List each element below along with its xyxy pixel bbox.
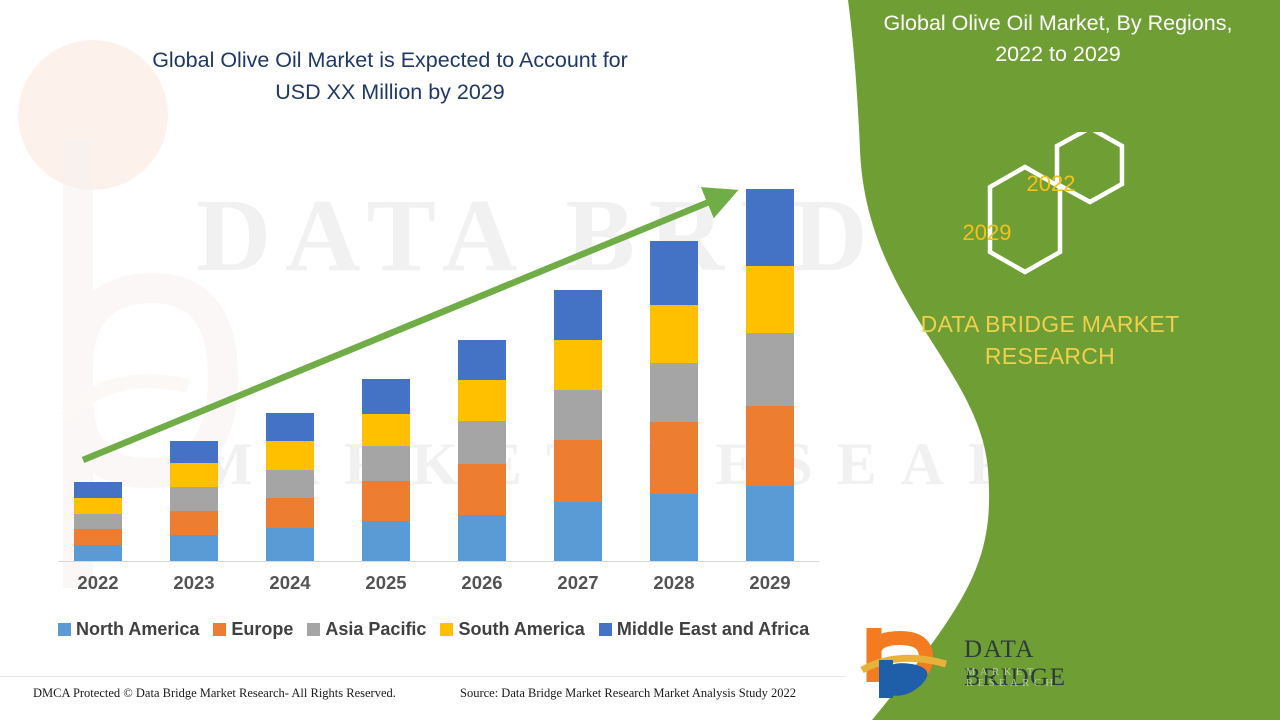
bar-segment-2022-asia-pacific[interactable]: [74, 514, 122, 529]
bar-segment-2026-south-america[interactable]: [458, 380, 506, 421]
bar-segment-2023-south-america[interactable]: [170, 463, 218, 487]
legend-label: North America: [76, 619, 199, 640]
bar-segment-2023-asia-pacific[interactable]: [170, 487, 218, 511]
x-axis-tick-2024: 2024: [255, 572, 325, 594]
bar-segment-2027-middle-east-and-africa[interactable]: [554, 290, 602, 340]
chart-title-line-2: USD XX Million by 2029: [40, 76, 740, 108]
bar-2025[interactable]: [362, 379, 410, 561]
bar-segment-2022-middle-east-and-africa[interactable]: [74, 482, 122, 498]
x-axis-tick-2023: 2023: [159, 572, 229, 594]
hexagon-outlines: [952, 132, 1172, 287]
chart-title-line-1: Global Olive Oil Market is Expected to A…: [40, 44, 740, 76]
data-bridge-logo: DATA BRIDGE MARKET RESEARCH: [860, 622, 1090, 702]
bar-segment-2024-asia-pacific[interactable]: [266, 470, 314, 498]
bar-segment-2025-europe[interactable]: [362, 481, 410, 521]
bar-segment-2028-europe[interactable]: [650, 422, 698, 494]
bar-segment-2025-north-america[interactable]: [362, 521, 410, 561]
bar-segment-2028-south-america[interactable]: [650, 305, 698, 363]
logo-tagline: MARKET RESEARCH: [966, 667, 1090, 689]
legend-item-europe[interactable]: Europe: [213, 619, 293, 640]
x-axis-tick-2027: 2027: [543, 572, 613, 594]
bar-2023[interactable]: [170, 441, 218, 561]
bar-2022[interactable]: [74, 482, 122, 561]
bar-2028[interactable]: [650, 241, 698, 561]
bar-segment-2028-asia-pacific[interactable]: [650, 363, 698, 423]
brand-name: DATA BRIDGE MARKET RESEARCH: [830, 308, 1270, 372]
x-axis-labels: 20222023202420252026202720282029: [58, 572, 828, 602]
infographic-root: DATA BRIDGE MARKET RESEARCH Global Olive…: [0, 0, 1280, 720]
bar-segment-2023-europe[interactable]: [170, 511, 218, 535]
bar-segment-2026-middle-east-and-africa[interactable]: [458, 340, 506, 380]
bar-segment-2026-asia-pacific[interactable]: [458, 421, 506, 464]
bar-segment-2029-europe[interactable]: [746, 406, 794, 486]
bar-segment-2028-north-america[interactable]: [650, 494, 698, 561]
x-axis-tick-2022: 2022: [63, 572, 133, 594]
right-green-panel: Global Olive Oil Market, By Regions, 202…: [820, 0, 1280, 720]
hexagon-2029-label: 2029: [942, 220, 1032, 246]
panel-title-line-1: Global Olive Oil Market, By Regions,: [844, 8, 1272, 39]
x-axis-tick-2029: 2029: [735, 572, 805, 594]
footer-source: Source: Data Bridge Market Research Mark…: [460, 686, 796, 701]
hexagon-2022-label: 2022: [1006, 171, 1096, 197]
bar-segment-2025-asia-pacific[interactable]: [362, 446, 410, 481]
bar-segment-2024-middle-east-and-africa[interactable]: [266, 413, 314, 441]
legend-item-north-america[interactable]: North America: [58, 619, 199, 640]
bar-segment-2029-asia-pacific[interactable]: [746, 333, 794, 406]
bar-segment-2028-middle-east-and-africa[interactable]: [650, 241, 698, 305]
footer-divider: [0, 676, 845, 677]
x-axis-tick-2028: 2028: [639, 572, 709, 594]
stacked-bar-chart: [58, 150, 828, 562]
bar-segment-2027-europe[interactable]: [554, 440, 602, 502]
bar-segment-2023-middle-east-and-africa[interactable]: [170, 441, 218, 463]
legend-swatch-icon: [58, 623, 71, 636]
legend-item-south-america[interactable]: South America: [440, 619, 584, 640]
x-axis-tick-2026: 2026: [447, 572, 517, 594]
legend-label: South America: [458, 619, 584, 640]
legend-swatch-icon: [307, 623, 320, 636]
bar-2029[interactable]: [746, 189, 794, 561]
hexagon-badges: 2029 2022: [952, 132, 1172, 287]
legend-label: Middle East and Africa: [617, 619, 809, 640]
chart-legend: North AmericaEuropeAsia PacificSouth Ame…: [58, 615, 838, 643]
brand-name-line-1: DATA BRIDGE MARKET: [830, 308, 1270, 340]
legend-swatch-icon: [440, 623, 453, 636]
bar-segment-2027-north-america[interactable]: [554, 502, 602, 561]
bar-segment-2022-north-america[interactable]: [74, 545, 122, 561]
bar-segment-2027-asia-pacific[interactable]: [554, 390, 602, 440]
bar-2026[interactable]: [458, 340, 506, 561]
bar-segment-2024-south-america[interactable]: [266, 441, 314, 471]
bar-segment-2029-south-america[interactable]: [746, 266, 794, 334]
logo-mark-icon: [860, 624, 960, 700]
bar-segment-2022-europe[interactable]: [74, 529, 122, 545]
axis-baseline: [58, 561, 820, 562]
bar-segment-2026-europe[interactable]: [458, 464, 506, 515]
bar-segment-2024-north-america[interactable]: [266, 528, 314, 561]
bar-segment-2022-south-america[interactable]: [74, 498, 122, 514]
panel-title: Global Olive Oil Market, By Regions, 202…: [844, 8, 1272, 70]
legend-item-middle-east-and-africa[interactable]: Middle East and Africa: [599, 619, 809, 640]
bar-2027[interactable]: [554, 290, 602, 561]
legend-item-asia-pacific[interactable]: Asia Pacific: [307, 619, 426, 640]
legend-swatch-icon: [599, 623, 612, 636]
brand-name-line-2: RESEARCH: [830, 340, 1270, 372]
bar-segment-2024-europe[interactable]: [266, 498, 314, 528]
footer-copyright: DMCA Protected © Data Bridge Market Rese…: [33, 686, 396, 701]
bar-segment-2027-south-america[interactable]: [554, 340, 602, 390]
bar-segment-2025-middle-east-and-africa[interactable]: [362, 379, 410, 414]
bar-2024[interactable]: [266, 413, 314, 561]
legend-label: Europe: [231, 619, 293, 640]
bar-segment-2025-south-america[interactable]: [362, 414, 410, 446]
x-axis-tick-2025: 2025: [351, 572, 421, 594]
legend-swatch-icon: [213, 623, 226, 636]
panel-title-line-2: 2022 to 2029: [844, 39, 1272, 70]
bar-segment-2029-north-america[interactable]: [746, 486, 794, 561]
bar-segment-2029-middle-east-and-africa[interactable]: [746, 189, 794, 266]
legend-label: Asia Pacific: [325, 619, 426, 640]
bar-segment-2026-north-america[interactable]: [458, 515, 506, 561]
chart-title: Global Olive Oil Market is Expected to A…: [40, 44, 740, 108]
bar-segment-2023-north-america[interactable]: [170, 535, 218, 561]
